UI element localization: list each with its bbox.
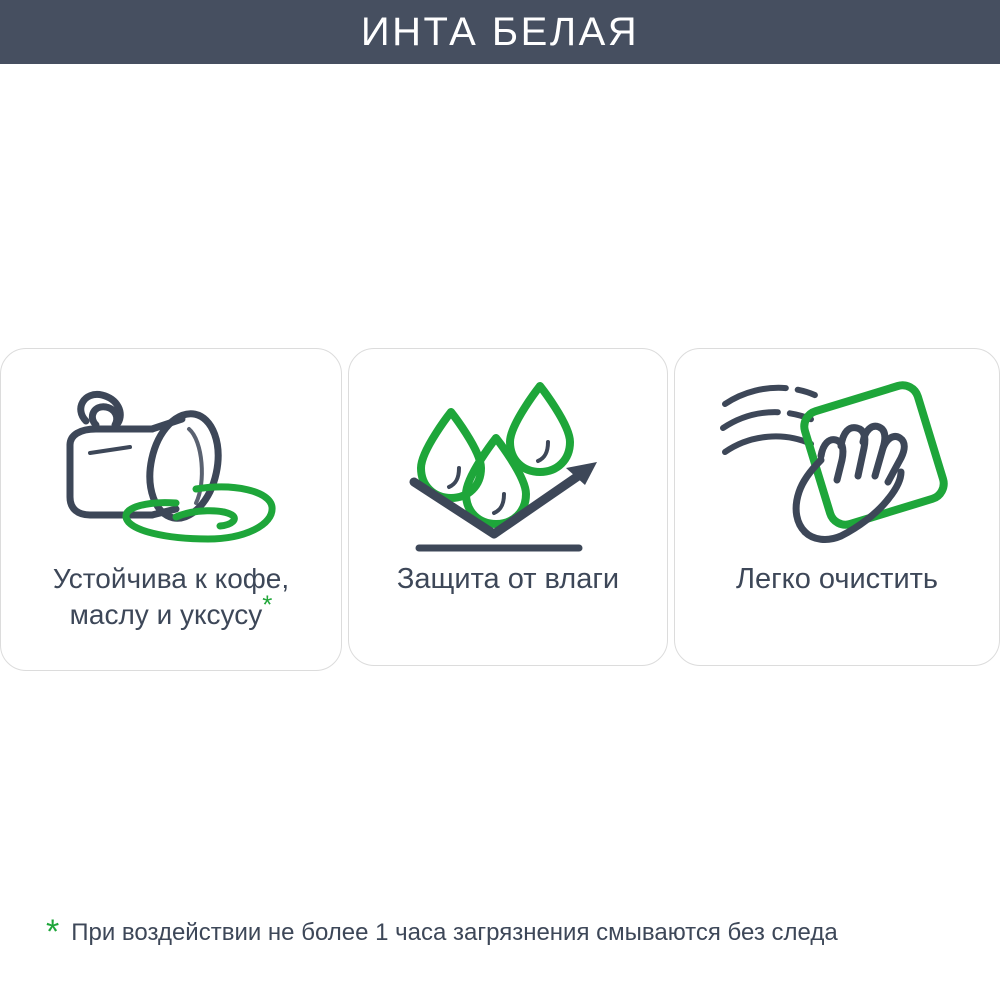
feature-cards-row: Устойчива к кофе, маслу и уксусу* — [0, 348, 1000, 671]
droplet-left — [421, 412, 481, 498]
spilled-mug-icon — [56, 379, 286, 554]
water-droplets-repel-icon — [401, 376, 616, 556]
spilled-mug-icon-wrap — [1, 371, 341, 561]
feature-card-label: Легко очистить — [726, 561, 948, 598]
feature-card-label-line-2: маслу и уксусу — [70, 599, 263, 630]
hand-wiping-cloth-icon — [717, 376, 957, 556]
asterisk-marker: * — [262, 590, 272, 620]
feature-card-coffee-resistant: Устойчива к кофе, маслу и уксусу* — [0, 348, 342, 671]
page-header: ИНТА БЕЛАЯ — [0, 0, 1000, 64]
feature-card-label-line-1: Устойчива к кофе, — [53, 563, 289, 594]
feature-card-label: Устойчива к кофе, маслу и уксусу* — [43, 561, 299, 633]
water-droplets-repel-icon-wrap — [349, 371, 667, 561]
page-title: ИНТА БЕЛАЯ — [361, 12, 639, 52]
droplet-top-right — [510, 386, 570, 472]
footnote: * При воздействии не более 1 часа загряз… — [46, 918, 838, 948]
feature-card-moisture-protection: Защита от влаги — [348, 348, 668, 666]
feature-card-easy-clean: Легко очистить — [674, 348, 1000, 666]
hand-wiping-cloth-icon-wrap — [675, 371, 999, 561]
footnote-asterisk: * — [46, 918, 59, 946]
footnote-text: При воздействии не более 1 часа загрязне… — [71, 918, 837, 948]
feature-card-label: Защита от влаги — [387, 561, 629, 598]
